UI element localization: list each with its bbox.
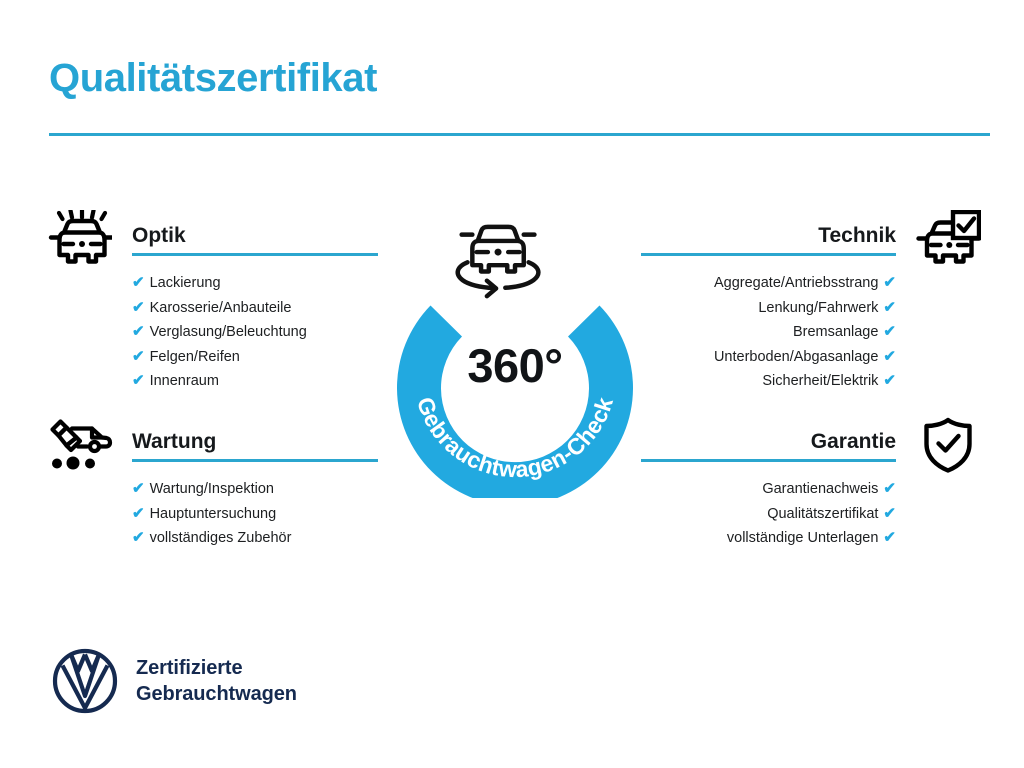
- section-technik-underline: [641, 253, 896, 256]
- car-front-checkbox-icon: [912, 208, 984, 270]
- list-item-label: Bremsanlage: [793, 324, 878, 340]
- section-garantie: Garantie Garantienachweis✔ Qualitätszert…: [640, 412, 984, 551]
- check-icon: ✔: [883, 274, 896, 291]
- footer-line-1: Zertifizierte: [136, 655, 297, 681]
- check-icon: ✔: [883, 299, 896, 316]
- section-wartung-underline: [132, 459, 378, 462]
- section-wartung: Wartung ✔Wartung/Inspektion ✔Hauptunters…: [44, 412, 384, 551]
- footer-brand-text: Zertifizierte Gebrauchtwagen: [136, 655, 297, 707]
- car-front-lights-icon: [44, 208, 116, 270]
- list-item: ✔vollständiges Zubehör: [132, 526, 384, 551]
- list-item: vollständige Unterlagen✔: [640, 526, 896, 551]
- list-item-label: Felgen/Reifen: [150, 349, 240, 365]
- list-item-label: Lackierung: [150, 275, 221, 291]
- section-technik-list: Aggregate/Antriebsstrang✔ Lenkung/Fahrwe…: [640, 271, 984, 394]
- section-optik: Optik ✔Lackierung ✔Karosserie/Anbauteile…: [44, 206, 384, 394]
- section-technik: Technik Aggregate/Antriebsstrang✔ Lenkun…: [640, 206, 984, 394]
- list-item-label: Verglasung/Beleuchtung: [150, 324, 307, 340]
- list-item: ✔Karosserie/Anbauteile: [132, 296, 384, 321]
- title-divider: [49, 133, 990, 136]
- list-item: Qualitätszertifikat✔: [640, 502, 896, 527]
- check-icon: ✔: [883, 480, 896, 497]
- check-icon: ✔: [132, 348, 145, 365]
- list-item-label: Innenraum: [150, 373, 219, 389]
- list-item-label: vollständiges Zubehör: [150, 530, 292, 546]
- section-optik-title: Optik: [132, 225, 186, 246]
- list-item-label: Aggregate/Antriebsstrang: [714, 275, 878, 291]
- badge-360-check: Gebrauchtwagen-Check 360°: [370, 198, 660, 498]
- section-garantie-underline: [641, 459, 896, 462]
- section-technik-title: Technik: [818, 225, 896, 246]
- list-item: ✔Hauptuntersuchung: [132, 502, 384, 527]
- list-item: Garantienachweis✔: [640, 477, 896, 502]
- badge-center-value: 360°: [370, 338, 660, 393]
- list-item-label: Sicherheit/Elektrik: [762, 373, 878, 389]
- list-item-label: Karosserie/Anbauteile: [150, 300, 292, 316]
- list-item: ✔Verglasung/Beleuchtung: [132, 320, 384, 345]
- quality-certificate-page: Qualitätszertifikat: [0, 0, 1024, 768]
- list-item: ✔Felgen/Reifen: [132, 345, 384, 370]
- check-icon: ✔: [132, 505, 145, 522]
- list-item-label: Qualitätszertifikat: [767, 506, 878, 522]
- check-icon: ✔: [883, 372, 896, 389]
- footer-line-2: Gebrauchtwagen: [136, 681, 297, 707]
- section-garantie-list: Garantienachweis✔ Qualitätszertifikat✔ v…: [640, 477, 984, 551]
- check-icon: ✔: [883, 323, 896, 340]
- section-garantie-header: Garantie: [640, 412, 984, 474]
- list-item-label: Unterboden/Abgasanlage: [714, 349, 878, 365]
- check-icon: ✔: [883, 348, 896, 365]
- list-item-label: Lenkung/Fahrwerk: [758, 300, 878, 316]
- vw-logo-icon: [52, 648, 118, 714]
- check-icon: ✔: [132, 299, 145, 316]
- shield-check-icon: [912, 414, 984, 476]
- check-icon: ✔: [132, 529, 145, 546]
- car-rotation-icon: [458, 227, 539, 296]
- list-item: Lenkung/Fahrwerk✔: [640, 296, 896, 321]
- list-item-label: Garantienachweis: [762, 481, 878, 497]
- list-item: Bremsanlage✔: [640, 320, 896, 345]
- section-wartung-title: Wartung: [132, 431, 216, 452]
- page-title: Qualitätszertifikat: [49, 56, 377, 100]
- section-wartung-header: Wartung: [44, 412, 384, 474]
- list-item: ✔Wartung/Inspektion: [132, 477, 384, 502]
- check-icon: ✔: [132, 274, 145, 291]
- list-item: Aggregate/Antriebsstrang✔: [640, 271, 896, 296]
- check-icon: ✔: [132, 372, 145, 389]
- list-item-label: Wartung/Inspektion: [150, 481, 274, 497]
- list-item-label: Hauptuntersuchung: [150, 506, 277, 522]
- check-icon: ✔: [883, 505, 896, 522]
- section-technik-header: Technik: [640, 206, 984, 268]
- section-wartung-list: ✔Wartung/Inspektion ✔Hauptuntersuchung ✔…: [44, 477, 384, 551]
- list-item-label: vollständige Unterlagen: [727, 530, 879, 546]
- footer-brand: Zertifizierte Gebrauchtwagen: [52, 648, 297, 714]
- section-optik-header: Optik: [44, 206, 384, 268]
- section-optik-list: ✔Lackierung ✔Karosserie/Anbauteile ✔Verg…: [44, 271, 384, 394]
- section-optik-underline: [132, 253, 378, 256]
- section-garantie-title: Garantie: [811, 431, 896, 452]
- check-icon: ✔: [132, 480, 145, 497]
- check-icon: ✔: [132, 323, 145, 340]
- pencil-car-service-icon: [44, 414, 116, 476]
- list-item: ✔Innenraum: [132, 369, 384, 394]
- list-item: Sicherheit/Elektrik✔: [640, 369, 896, 394]
- list-item: Unterboden/Abgasanlage✔: [640, 345, 896, 370]
- list-item: ✔Lackierung: [132, 271, 384, 296]
- check-icon: ✔: [883, 529, 896, 546]
